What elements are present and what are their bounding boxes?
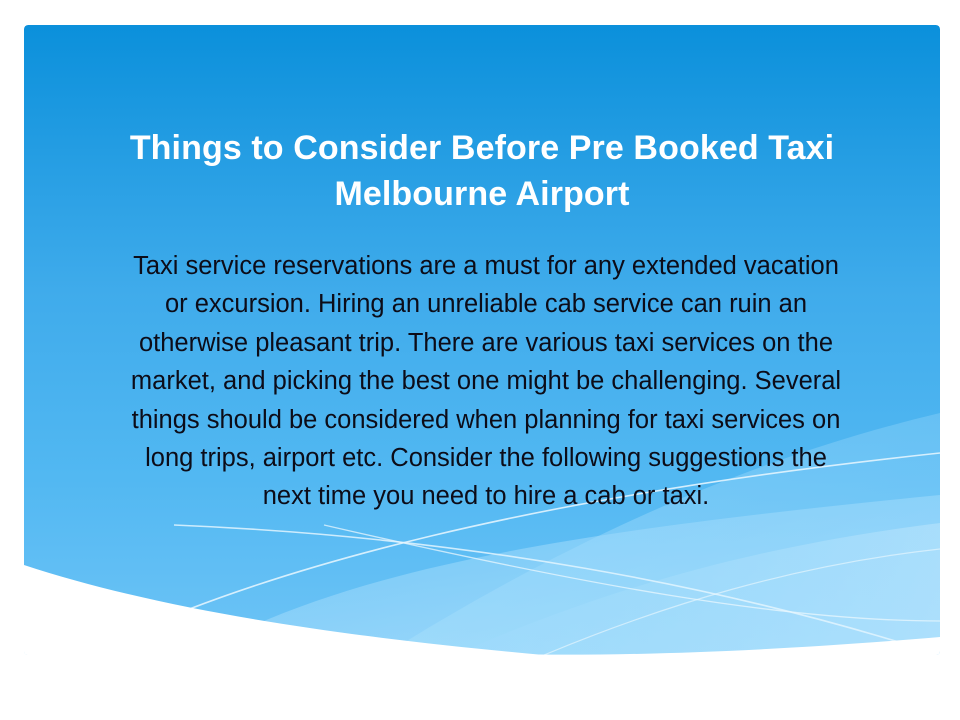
slide-root: Things to Consider Before Pre Booked Tax… xyxy=(0,0,960,720)
slide-body-text: Taxi service reservations are a must for… xyxy=(122,247,850,516)
slide-content: Things to Consider Before Pre Booked Tax… xyxy=(24,25,940,720)
page-title: Things to Consider Before Pre Booked Tax… xyxy=(102,125,862,217)
